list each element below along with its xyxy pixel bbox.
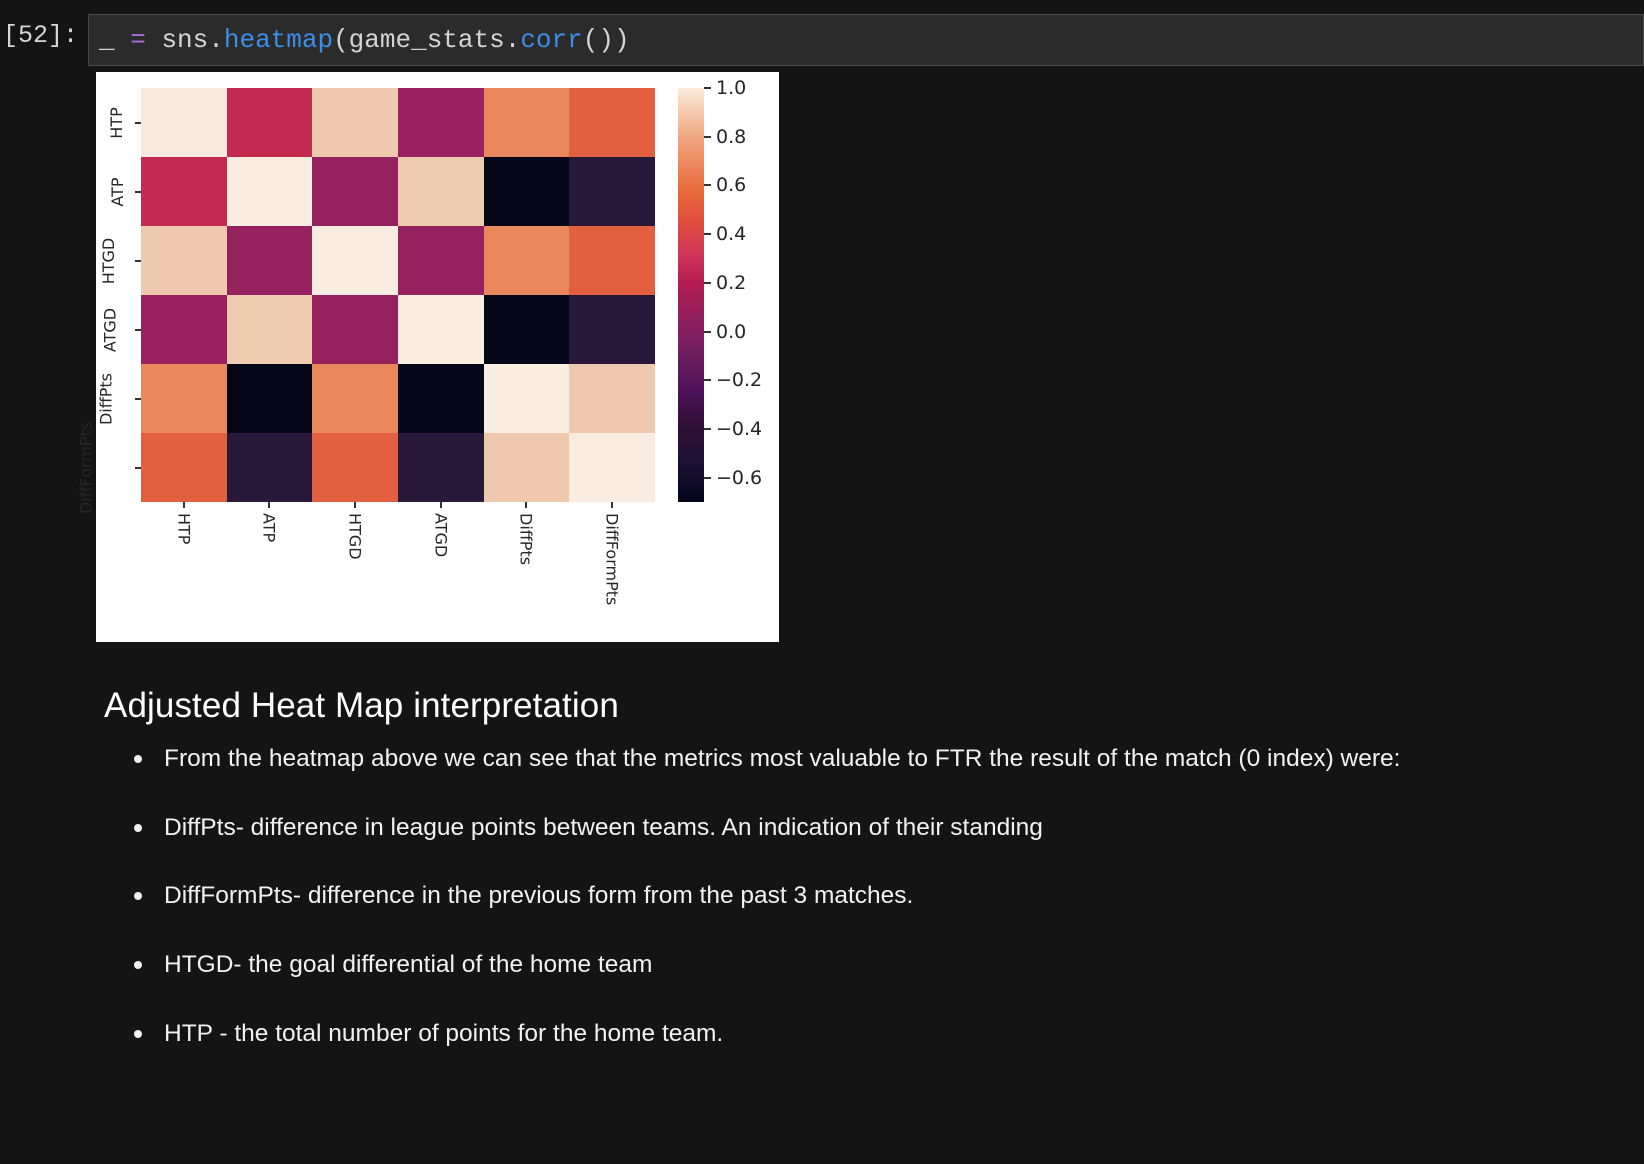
interpretation-list: From the heatmap above we can see that t…: [104, 744, 1624, 1049]
heatmap-cell: [141, 433, 227, 502]
heatmap-cell: [484, 295, 570, 364]
heatmap-cell: [227, 433, 313, 502]
heatmap-cell: [484, 364, 570, 433]
y-tick-label-text: DiffFormPts: [76, 421, 95, 513]
list-item-text: DiffPts- difference in league points bet…: [164, 814, 1043, 841]
list-item-text: HTP - the total number of points for the…: [164, 1020, 723, 1047]
bullet-icon: [134, 755, 142, 763]
heatmap-cell: [569, 295, 655, 364]
code-token: _: [99, 25, 130, 55]
y-tick-mark: [135, 467, 141, 469]
heatmap-x-axis: HTPATPHTGDATGDDiffPtsDiffFormPts: [141, 502, 655, 642]
x-axis-tick: DiffPts: [484, 502, 570, 642]
colorbar-tick-label: −0.6: [716, 467, 762, 489]
y-tick-label: DiffFormPts: [40, 458, 132, 477]
code-token: corr: [520, 25, 582, 55]
heatmap-cell: [569, 433, 655, 502]
cell-prompt-label: [52]:: [0, 14, 88, 58]
bullet-icon: [134, 961, 142, 969]
heatmap-cell: [398, 295, 484, 364]
colorbar-tick-label: 0.2: [716, 272, 746, 294]
x-tick-label: DiffFormPts: [603, 513, 622, 605]
heatmap-cell: [312, 364, 398, 433]
y-tick-label: HTP: [101, 113, 132, 132]
x-axis-tick: HTGD: [312, 502, 398, 642]
y-axis-tick: HTP: [96, 88, 141, 157]
y-axis-tick: HTGD: [96, 226, 141, 295]
x-tick-label: ATP: [260, 513, 279, 542]
heatmap-cell: [398, 88, 484, 157]
y-axis-tick: DiffPts: [96, 364, 141, 433]
colorbar-tick-label: −0.4: [716, 418, 762, 440]
colorbar-tick-label: 0.4: [716, 223, 746, 245]
cell-output-area: HTPATPHTGDATGDDiffPtsDiffFormPts HTPATPH…: [0, 66, 1644, 642]
heatmap-cell: [312, 295, 398, 364]
colorbar-tick-label: 1.0: [716, 77, 746, 99]
y-tick-label-text: ATGD: [100, 307, 119, 351]
list-item: HTP - the total number of points for the…: [128, 1019, 1624, 1050]
x-tick-mark: [440, 502, 442, 508]
code-token: (game_stats.: [333, 25, 520, 55]
y-tick-mark: [135, 260, 141, 262]
heatmap-cell: [312, 433, 398, 502]
x-axis-tick: DiffFormPts: [569, 502, 655, 642]
colorbar-ticks: 1.00.80.60.40.20.0−0.2−0.4−0.6: [678, 88, 798, 502]
heatmap-cell: [569, 364, 655, 433]
x-tick-label: ATGD: [431, 513, 450, 557]
list-item-text: From the heatmap above we can see that t…: [164, 745, 1400, 772]
x-tick-mark: [354, 502, 356, 508]
heatmap-cell: [141, 295, 227, 364]
colorbar-tick-mark: [704, 477, 711, 479]
heatmap-cell: [141, 88, 227, 157]
heatmap-cell: [484, 88, 570, 157]
code-input[interactable]: _ = sns.heatmap(game_stats.corr()): [88, 14, 1644, 66]
heatmap-cell: [484, 157, 570, 226]
colorbar-tick-label: 0.0: [716, 321, 746, 343]
y-axis-tick: ATP: [96, 157, 141, 226]
colorbar-tick-mark: [704, 136, 711, 138]
heatmap-cell: [398, 364, 484, 433]
y-tick-label-text: ATP: [108, 177, 127, 206]
x-axis-tick: HTP: [141, 502, 227, 642]
heatmap-cell: [569, 88, 655, 157]
colorbar-tick-mark: [704, 428, 711, 430]
code-token: =: [130, 25, 161, 55]
heatmap-cell: [569, 226, 655, 295]
heatmap-grid: [141, 88, 655, 502]
code-token: heatmap: [224, 25, 333, 55]
list-item: DiffPts- difference in league points bet…: [128, 813, 1624, 844]
heatmap-cell: [141, 157, 227, 226]
colorbar-tick-label: 0.6: [716, 174, 746, 196]
y-tick-mark: [135, 191, 141, 193]
heatmap-cell: [484, 226, 570, 295]
heatmap-cell: [312, 88, 398, 157]
notebook-page: [52]: _ = sns.heatmap(game_stats.corr())…: [0, 0, 1644, 1164]
colorbar-tick-mark: [704, 282, 711, 284]
y-tick-label: ATP: [103, 182, 132, 201]
heatmap-cell: [141, 364, 227, 433]
list-item: From the heatmap above we can see that t…: [128, 744, 1624, 775]
heatmap-figure: HTPATPHTGDATGDDiffPtsDiffFormPts HTPATPH…: [96, 72, 779, 642]
x-axis-tick: ATP: [227, 502, 313, 642]
x-tick-label: HTGD: [346, 513, 365, 560]
y-axis-tick: DiffFormPts: [96, 433, 141, 502]
heatmap-cell: [312, 226, 398, 295]
x-tick-mark: [611, 502, 613, 508]
colorbar-tick-label: 0.8: [716, 126, 746, 148]
heatmap-cell: [398, 226, 484, 295]
heatmap-cell: [569, 157, 655, 226]
x-tick-label: DiffPts: [517, 513, 536, 565]
colorbar-tick-mark: [704, 87, 711, 89]
heatmap-cell: [227, 88, 313, 157]
colorbar-tick-label: −0.2: [716, 369, 762, 391]
heatmap-cell: [312, 157, 398, 226]
y-tick-label-text: HTGD: [99, 237, 118, 284]
y-tick-label: DiffPts: [80, 389, 132, 408]
heatmap-cell: [484, 433, 570, 502]
list-item: HTGD- the goal differential of the home …: [128, 950, 1624, 981]
colorbar-tick-mark: [704, 331, 711, 333]
x-axis-tick: ATGD: [398, 502, 484, 642]
x-tick-mark: [268, 502, 270, 508]
heatmap-cell: [227, 226, 313, 295]
x-tick-mark: [183, 502, 185, 508]
heatmap-cell: [398, 433, 484, 502]
list-item-text: HTGD- the goal differential of the home …: [164, 951, 652, 978]
bullet-icon: [134, 1030, 142, 1038]
y-tick-mark: [135, 398, 141, 400]
colorbar-tick-mark: [704, 379, 711, 381]
bullet-icon: [134, 892, 142, 900]
heatmap-cell: [227, 157, 313, 226]
heatmap-cell: [141, 226, 227, 295]
code-token: ()): [583, 25, 630, 55]
y-tick-mark: [135, 329, 141, 331]
colorbar-tick-mark: [704, 184, 711, 186]
markdown-cell: Adjusted Heat Map interpretation From th…: [0, 642, 1644, 1049]
colorbar-tick-mark: [704, 233, 711, 235]
x-tick-mark: [525, 502, 527, 508]
code-token: sns.: [161, 25, 223, 55]
section-heading: Adjusted Heat Map interpretation: [104, 686, 1624, 726]
y-tick-mark: [135, 122, 141, 124]
list-item: DiffFormPts- difference in the previous …: [128, 881, 1624, 912]
y-tick-label-text: DiffPts: [96, 372, 115, 424]
code-cell: [52]: _ = sns.heatmap(game_stats.corr()): [0, 0, 1644, 66]
y-axis-tick: ATGD: [96, 295, 141, 364]
heatmap-cell: [227, 364, 313, 433]
y-tick-label: ATGD: [88, 320, 132, 339]
code-source-text: _ = sns.heatmap(game_stats.corr()): [99, 14, 630, 66]
bullet-icon: [134, 824, 142, 832]
heatmap-cell: [398, 157, 484, 226]
y-tick-label: HTGD: [85, 251, 132, 270]
x-tick-label: HTP: [174, 513, 193, 544]
heatmap-y-axis: HTPATPHTGDATGDDiffPtsDiffFormPts: [96, 88, 141, 502]
y-tick-label-text: HTP: [107, 107, 126, 138]
list-item-text: DiffFormPts- difference in the previous …: [164, 882, 913, 909]
heatmap-cell: [227, 295, 313, 364]
